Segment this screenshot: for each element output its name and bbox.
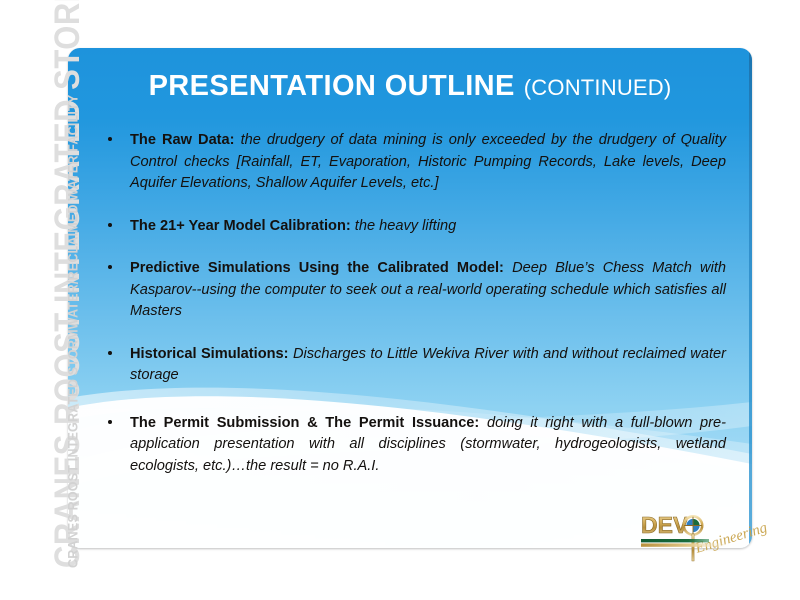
bullet-item: The 21+ Year Model Calibration: the heav… <box>102 216 726 238</box>
logo-green-bar <box>641 539 709 542</box>
bullet-lead: Historical Simulations: <box>130 346 289 362</box>
devo-engineering-logo: DEV Engineering <box>638 508 768 570</box>
bullet-item: Historical Simulations: Discharges to Li… <box>102 344 726 387</box>
bullet-lead: The Permit Submission & The Permit Issua… <box>130 415 479 431</box>
slide-title: PRESENTATION OUTLINE(CONTINUED) <box>68 70 752 103</box>
panel-right-edge <box>749 48 752 548</box>
bullet-lead: The 21+ Year Model Calibration: <box>130 218 351 234</box>
title-main-text: PRESENTATION OUTLINE <box>149 70 515 102</box>
bullet-dot-icon <box>108 351 112 355</box>
bullet-dot-icon <box>108 223 112 227</box>
bullet-dot-icon <box>108 420 112 424</box>
bullet-lead: Predictive Simulations Using the Calibra… <box>130 260 504 276</box>
bullet-lead: The Raw Data: <box>130 132 235 148</box>
bullet-item: The Permit Submission & The Permit Issua… <box>102 413 726 478</box>
content-panel: PRESENTATION OUTLINE(CONTINUED) The Raw … <box>68 48 752 548</box>
outline-bullet-list: The Raw Data: the drudgery of data minin… <box>102 130 726 477</box>
logo-gold-bar <box>641 543 733 546</box>
slide-canvas: CRANES ROOST INTEGRATED STORMWATER CRANE… <box>0 0 800 600</box>
bullet-dot-icon <box>108 137 112 141</box>
bullet-item: Predictive Simulations Using the Calibra… <box>102 258 726 323</box>
logo-wordmark-text: DEV <box>641 512 689 538</box>
bullet-body: the heavy lifting <box>355 218 456 234</box>
logo-script-text: Engineering <box>693 520 768 557</box>
bullet-dot-icon <box>108 265 112 269</box>
sidebar-title-small: CRANES ROOST INTEGRATED STORMWATER/RECLA… <box>65 95 81 568</box>
title-continued-text: (CONTINUED) <box>524 75 672 100</box>
sidebar-branding: CRANES ROOST INTEGRATED STORMWATER CRANE… <box>0 0 68 600</box>
bullet-item: The Raw Data: the drudgery of data minin… <box>102 130 726 195</box>
